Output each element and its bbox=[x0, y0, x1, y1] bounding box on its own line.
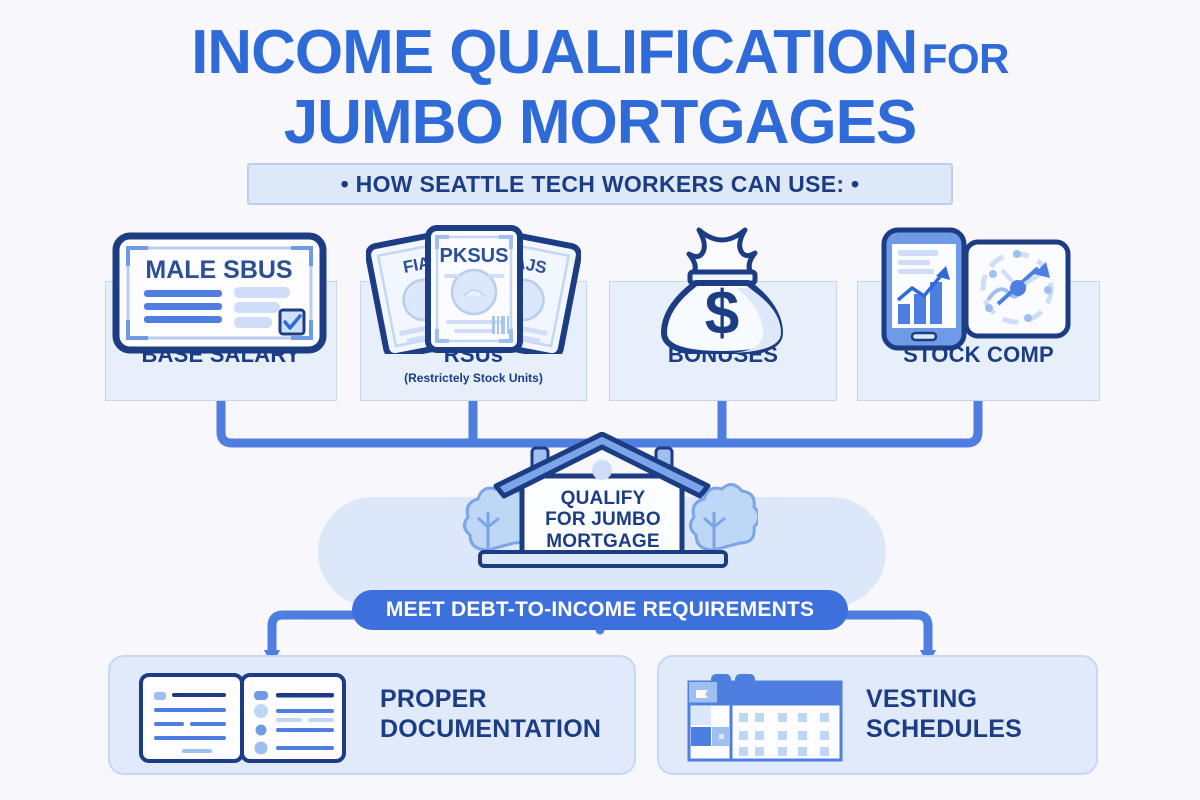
house-line-1: QUALIFY bbox=[448, 488, 758, 509]
requirement-line-2: SCHEDULES bbox=[866, 714, 1022, 744]
title-subject-text: JUMBO MORTGAGES bbox=[284, 88, 917, 157]
card-sublabel: (Restrictely Stock Units) bbox=[361, 371, 586, 385]
qualify-house[interactable]: QUALIFY FOR JUMBO MORTGAGE bbox=[448, 432, 758, 577]
dti-requirements-banner[interactable]: MEET DEBT-TO-INCOME REQUIREMENTS bbox=[352, 590, 848, 630]
requirement-line-1: PROPER bbox=[380, 684, 601, 714]
infographic-canvas: INCOME QUALIFICATION FOR JUMBO MORTGAGES… bbox=[0, 0, 1200, 800]
requirement-label: VESTING SCHEDULES bbox=[866, 684, 1022, 744]
title-line-1: INCOME QUALIFICATION FOR bbox=[0, 22, 1200, 84]
house-line-3: MORTGAGE bbox=[448, 531, 758, 552]
requirement-card-documentation[interactable]: PROPER DOCUMENTATION bbox=[108, 655, 636, 775]
subtitle-text: • HOW SEATTLE TECH WORKERS CAN USE: • bbox=[341, 171, 860, 198]
open-book-document-icon bbox=[138, 672, 348, 764]
title-main-text: INCOME QUALIFICATION bbox=[191, 18, 917, 87]
requirement-card-vesting[interactable]: VESTING SCHEDULES bbox=[657, 655, 1098, 775]
subtitle-banner: • HOW SEATTLE TECH WORKERS CAN USE: • bbox=[247, 163, 953, 205]
house-label: QUALIFY FOR JUMBO MORTGAGE bbox=[448, 488, 758, 552]
title-for-text: FOR bbox=[922, 35, 1009, 82]
requirement-label: PROPER DOCUMENTATION bbox=[380, 684, 601, 744]
money-bag-icon: $ bbox=[655, 224, 790, 354]
certificate-front-text: PKSUS bbox=[440, 245, 509, 267]
requirement-line-2: DOCUMENTATION bbox=[380, 714, 601, 744]
stock-certificates-icon: FIA AJS bbox=[366, 222, 581, 354]
paystub-document-icon: MALE SBUS bbox=[112, 232, 327, 354]
page-title: INCOME QUALIFICATION FOR JUMBO MORTGAGES bbox=[0, 22, 1200, 154]
calendar-icon bbox=[683, 672, 848, 764]
dti-banner-text: MEET DEBT-TO-INCOME REQUIREMENTS bbox=[386, 598, 814, 622]
house-line-2: FOR JUMBO bbox=[448, 509, 758, 530]
requirement-line-1: VESTING bbox=[866, 684, 1022, 714]
dollar-sign-text: $ bbox=[705, 279, 739, 348]
title-line-2: JUMBO MORTGAGES bbox=[0, 92, 1200, 154]
phone-chart-icon bbox=[878, 224, 1073, 354]
paystub-heading-text: MALE SBUS bbox=[145, 256, 292, 284]
